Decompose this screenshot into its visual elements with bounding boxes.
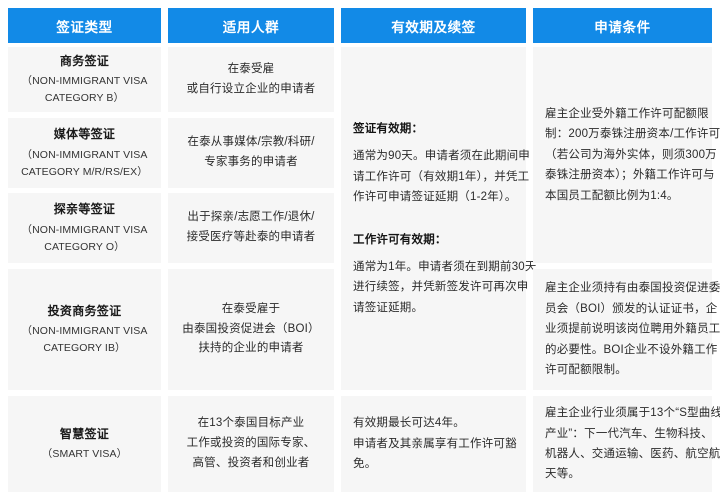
visa-type-title: 投资商务签证 — [48, 302, 122, 321]
validity-visa-heading: 签证有效期： — [353, 119, 538, 139]
visa-type-code: （NON-IMMIGRANT VISA CATEGORY M/R/RS/EX） — [8, 147, 161, 181]
applicable-group-cell: 在泰从事媒体/宗教/科研/ 专家事务的申请者 — [168, 118, 334, 188]
section-spacer — [353, 208, 538, 230]
validity-content: 签证有效期： 通常为90天。申请者须在此期间申请工作许可（有效期1年），并凭工作… — [341, 119, 550, 319]
applicable-group-text: 出于探亲/志愿工作/退休/ 接受医疗等赴泰的申请者 — [179, 208, 324, 248]
validity-cell-smart-visa: 有效期最长可达4年。 申请者及其亲属享有工作许可豁免。 — [341, 396, 526, 492]
applicable-group-cell: 在泰受雇 或自行设立企业的申请者 — [168, 47, 334, 112]
applicable-group-cell: 在泰受雇于 由泰国投资促进会（BOI） 扶持的企业的申请者 — [168, 269, 334, 390]
header-label: 有效期及续签 — [391, 16, 476, 36]
header-label: 申请条件 — [594, 16, 650, 36]
table-row: 探亲等签证 （NON-IMMIGRANT VISA CATEGORY O） — [8, 193, 161, 263]
validity-visa-text: 通常为90天。申请者须在此期间申请工作许可（有效期1年），并凭工作许可申请签证延… — [353, 146, 538, 207]
validity-cell-merged: 签证有效期： 通常为90天。申请者须在此期间申请工作许可（有效期1年），并凭工作… — [341, 47, 526, 390]
validity-smart-visa-text: 有效期最长可达4年。 申请者及其亲属享有工作许可豁免。 — [341, 413, 550, 474]
table-grid: 签证类型 适用人群 有效期及续签 申请条件 商务签证 （NON-IMMIGRAN… — [8, 8, 712, 492]
conditions-text-business: 雇主企业受外籍工作许可配额限制：200万泰铢注册资本/工作许可（若公司为海外实体… — [533, 104, 720, 206]
conditions-cell-boi: 雇主企业须持有由泰国投资促进委员会（BOI）颁发的认证证书，企业须提前说明该岗位… — [533, 269, 712, 390]
header-label: 适用人群 — [223, 16, 279, 36]
applicable-group-cell: 出于探亲/志愿工作/退休/ 接受医疗等赴泰的申请者 — [168, 193, 334, 263]
table-row: 商务签证 （NON-IMMIGRANT VISA CATEGORY B） — [8, 47, 161, 112]
table-row: 智慧签证 （SMART VISA） — [8, 396, 161, 492]
visa-type-title: 智慧签证 — [60, 425, 109, 444]
visa-comparison-table: 签证类型 适用人群 有效期及续签 申请条件 商务签证 （NON-IMMIGRAN… — [0, 0, 720, 499]
visa-type-code: （NON-IMMIGRANT VISA CATEGORY O） — [8, 222, 161, 256]
validity-workpermit-text: 通常为1年。申请者须在到期前30天进行续签，并凭新签发许可再次申请签证延期。 — [353, 257, 538, 318]
applicable-group-text: 在泰受雇于 由泰国投资促进会（BOI） 扶持的企业的申请者 — [174, 300, 327, 359]
applicable-group-text: 在泰从事媒体/宗教/科研/ 专家事务的申请者 — [179, 133, 322, 173]
table-header-validity-renewal: 有效期及续签 — [341, 8, 526, 43]
validity-workpermit-heading: 工作许可有效期： — [353, 230, 538, 250]
conditions-cell-merged: 雇主企业受外籍工作许可配额限制：200万泰铢注册资本/工作许可（若公司为海外实体… — [533, 47, 712, 263]
header-label: 签证类型 — [56, 16, 112, 36]
conditions-text-boi: 雇主企业须持有由泰国投资促进委员会（BOI）颁发的认证证书，企业须提前说明该岗位… — [533, 278, 720, 380]
applicable-group-text: 在13个泰国目标产业 工作或投资的国际专家、 高管、投资者和创业者 — [179, 414, 324, 473]
applicable-group-text: 在泰受雇 或自行设立企业的申请者 — [179, 60, 324, 100]
visa-type-code: （SMART VISA） — [36, 446, 133, 463]
applicable-group-cell: 在13个泰国目标产业 工作或投资的国际专家、 高管、投资者和创业者 — [168, 396, 334, 492]
table-header-applicable-group: 适用人群 — [168, 8, 334, 43]
visa-type-title: 媒体等签证 — [54, 125, 116, 144]
visa-type-code: （NON-IMMIGRANT VISA CATEGORY IB） — [8, 323, 161, 357]
visa-type-title: 探亲等签证 — [54, 200, 116, 219]
table-header-application-conditions: 申请条件 — [533, 8, 712, 43]
conditions-text-smart-visa: 雇主企业行业须属于13个“S型曲线产业”：下一代汽车、生物科技、机器人、交通运输… — [533, 403, 720, 485]
visa-type-title: 商务签证 — [60, 52, 109, 71]
table-row: 媒体等签证 （NON-IMMIGRANT VISA CATEGORY M/R/R… — [8, 118, 161, 188]
table-header-visa-type: 签证类型 — [8, 8, 161, 43]
table-row: 投资商务签证 （NON-IMMIGRANT VISA CATEGORY IB） — [8, 269, 161, 390]
visa-type-code: （NON-IMMIGRANT VISA CATEGORY B） — [8, 73, 161, 107]
conditions-cell-smart-visa: 雇主企业行业须属于13个“S型曲线产业”：下一代汽车、生物科技、机器人、交通运输… — [533, 396, 712, 492]
